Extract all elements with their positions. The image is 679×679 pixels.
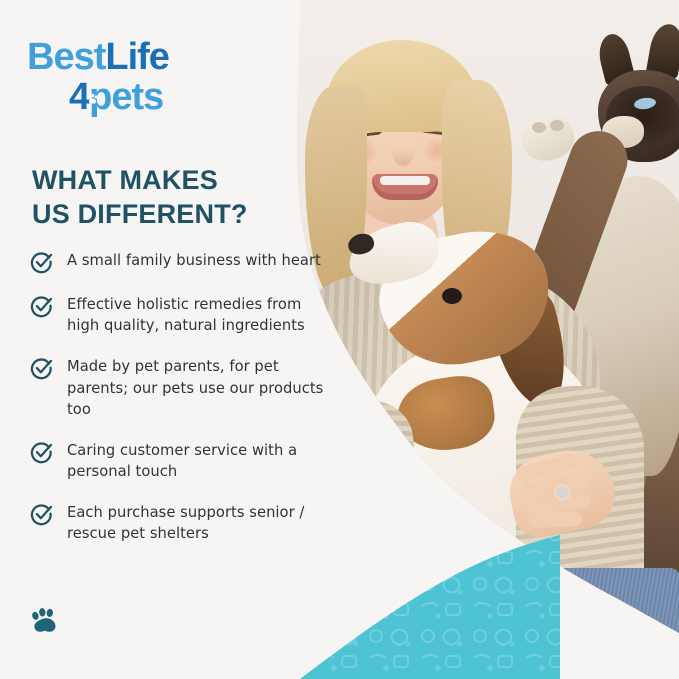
list-item-label: Each purchase supports senior / rescue p… [67,502,327,544]
list-item-label: Made by pet parents, for pet parents; ou… [67,356,327,420]
cat-toe [550,120,564,131]
cat-toe [532,122,546,133]
list-item: Effective holistic remedies from high qu… [30,294,330,336]
logo-best-text: Best [27,36,105,78]
headline-line-two: US DIFFERENT? [32,197,322,231]
list-item-label: Caring customer service with a personal … [67,440,327,482]
content-column: BestLife 4pets WHAT MAKES US DIFFERENT? [0,0,330,679]
list-item-label: A small family business with heart [67,250,321,271]
paw-print-icon [27,603,63,639]
headline-line-one: WHAT MAKES [32,165,218,195]
page-title: WHAT MAKES US DIFFERENT? [32,163,322,231]
marketing-card: BestLife 4pets WHAT MAKES US DIFFERENT? [0,0,679,679]
list-item: Made by pet parents, for pet parents; ou… [30,356,330,420]
logo-life-text: Life [105,36,169,78]
list-item: A small family business with heart [30,250,330,274]
woman-teeth [380,176,430,185]
woman-finger [528,511,582,528]
list-item: Caring customer service with a personal … [30,440,330,482]
list-item-label: Effective holistic remedies from high qu… [67,294,327,336]
woman-nose [392,136,414,166]
woman-jeans-cuff [506,624,595,666]
dog-center-leg [520,560,578,679]
dog-center-paw [329,399,391,453]
logo-pets-text: pets [89,76,163,118]
benefits-list: A small family business with heart Effec… [30,250,330,565]
check-circle-icon [30,251,53,274]
woman-ring [556,486,569,499]
dog-center-eye [442,288,462,304]
woman-jeans-right [520,568,679,679]
logo-line-two: 4pets [27,78,202,116]
check-circle-icon [30,295,53,318]
logo-line-one: BestLife [27,38,202,76]
list-item: Each purchase supports senior / rescue p… [30,502,330,544]
brand-logo[interactable]: BestLife 4pets [27,38,202,116]
paw-print-icon [85,92,100,106]
check-circle-icon [30,503,53,526]
check-circle-icon [30,441,53,464]
check-circle-icon [30,357,53,380]
